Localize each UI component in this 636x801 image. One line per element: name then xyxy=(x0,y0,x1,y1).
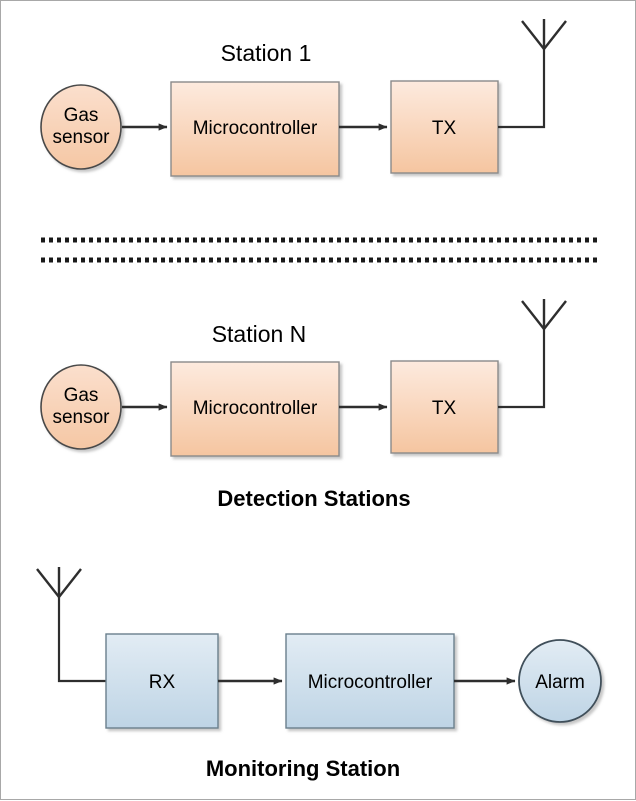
node-gas-sensor-n[interactable]: Gas sensor xyxy=(41,365,121,449)
node-alarm[interactable]: Alarm xyxy=(519,640,601,722)
alarm-label: Alarm xyxy=(535,672,585,693)
caption-detection-stations: Detection Stations xyxy=(217,486,410,511)
tx-1-label: TX xyxy=(432,118,457,139)
antenna-rx-icon xyxy=(37,567,81,597)
gas-sensor-1-label-line1: Gas xyxy=(64,105,99,126)
microcontroller-1-label: Microcontroller xyxy=(193,118,318,139)
tx-n-label: TX xyxy=(432,398,457,419)
microcontroller-m-label: Microcontroller xyxy=(308,672,433,693)
block-diagram-svg: Station 1 Gas sensor Microcontroller TX xyxy=(1,1,636,801)
node-gas-sensor-1[interactable]: Gas sensor xyxy=(41,85,121,169)
node-microcontroller-1[interactable]: Microcontroller xyxy=(171,82,339,176)
antenna-tx-1-icon xyxy=(522,19,566,49)
section-monitoring-station: RX Microcontroller Alarm xyxy=(37,567,601,728)
edge-tx-1-to-antenna-tx-1 xyxy=(498,49,544,127)
node-tx-1[interactable]: TX xyxy=(391,81,498,173)
gas-sensor-n-label-line1: Gas xyxy=(64,385,99,406)
antenna-tx-n-icon xyxy=(522,299,566,329)
caption-monitoring-station: Monitoring Station xyxy=(206,756,400,781)
section-station-1: Station 1 Gas sensor Microcontroller TX xyxy=(41,19,566,176)
gas-sensor-1-label-line2: sensor xyxy=(52,127,110,148)
edge-tx-n-to-antenna-tx-n xyxy=(498,329,544,407)
station-n-title: Station N xyxy=(212,321,307,347)
ellipsis-separator xyxy=(41,240,598,260)
station-1-title: Station 1 xyxy=(221,40,312,66)
node-tx-n[interactable]: TX xyxy=(391,361,498,453)
rx-label: RX xyxy=(149,672,176,693)
node-microcontroller-m[interactable]: Microcontroller xyxy=(286,634,454,728)
gas-sensor-n-label-line2: sensor xyxy=(52,407,110,428)
diagram-canvas: Station 1 Gas sensor Microcontroller TX xyxy=(0,0,636,800)
edge-antenna-rx-to-rx xyxy=(59,597,106,681)
microcontroller-n-label: Microcontroller xyxy=(193,398,318,419)
section-station-n: Station N Gas sensor Microcontroller TX xyxy=(41,299,566,456)
node-rx[interactable]: RX xyxy=(106,634,218,728)
node-microcontroller-n[interactable]: Microcontroller xyxy=(171,362,339,456)
